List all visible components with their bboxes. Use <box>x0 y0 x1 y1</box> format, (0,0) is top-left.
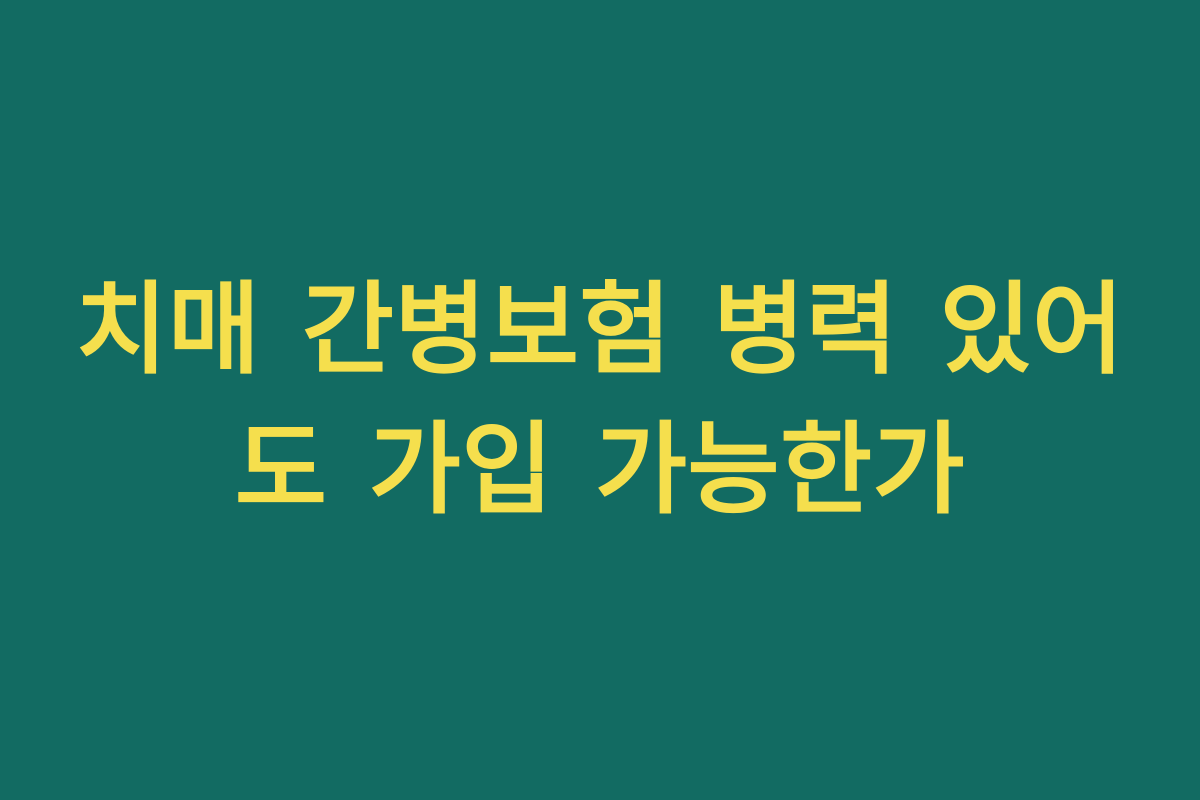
headline-line-2: 도 가입 가능한가 <box>50 400 1150 540</box>
headline-line-1: 치매 간병보험 병력 있어 <box>50 260 1150 400</box>
promo-banner: 치매 간병보험 병력 있어 도 가입 가능한가 <box>0 0 1200 800</box>
banner-headline: 치매 간병보험 병력 있어 도 가입 가능한가 <box>50 260 1150 540</box>
